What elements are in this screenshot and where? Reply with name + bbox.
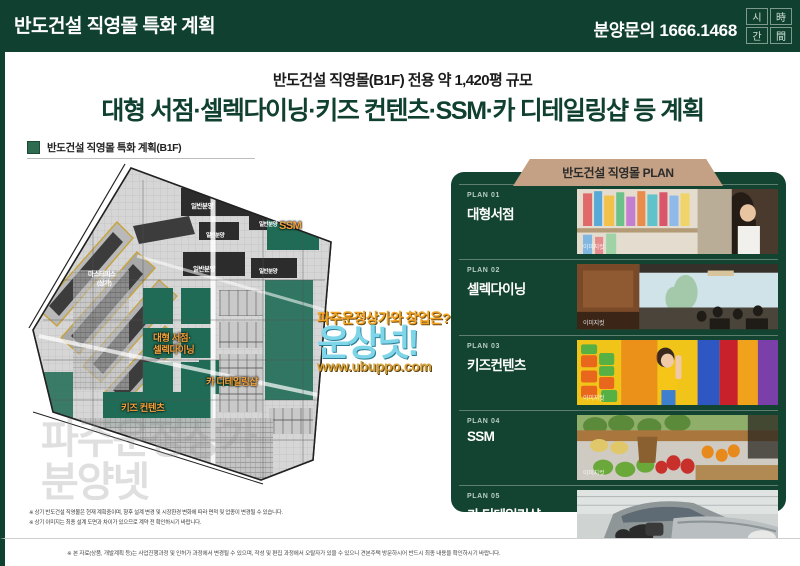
plan-panel: PLAN 01 대형서점: [451, 172, 786, 512]
plan-row-02-photo: 이미지컷: [577, 264, 778, 329]
slide-root: 반도건설 직영몰 특화 계획 분양문의 1666.1468 시 時 간 間 반도…: [0, 0, 800, 566]
floorplan-container: 파주운정상가 분양넷 일반분양 일반분양 일반분양 일반분양 일반분양 마스터피…: [13, 160, 443, 500]
plan-row-01-text: PLAN 01 대형서점: [459, 185, 577, 259]
plan-row-01-photo: 이미지컷: [577, 189, 778, 254]
sigan-logo: 시 時 간 間: [746, 8, 792, 44]
footnote-2: ※ 상기 이미지는 최종 설계 도면과 차이가 있으므로 계약 전 확인하시기 …: [29, 518, 449, 528]
page-header: 반도건설 직영몰 특화 계획 분양문의 1666.1468 시 時 간 間: [0, 0, 800, 52]
plan-row-05-number: PLAN 05: [467, 493, 577, 500]
plan-row-03[interactable]: PLAN 03 키즈컨텐츠: [459, 335, 778, 410]
plan-row-04-text: PLAN 04 SSM: [459, 411, 577, 485]
plan-row-02-caption: 이미지컷: [583, 318, 604, 327]
bottom-disclaimer-bar: ※ 본 자료(상품, 개발계획 등)는 사업진행과정 및 인허가 과정에서 변경…: [0, 538, 800, 566]
content-frame: 반도건설 직영몰(B1F) 전용 약 1,420평 규모 대형 서점·셀렉다이닝…: [0, 52, 800, 538]
plan-row-01-number: PLAN 01: [467, 192, 577, 199]
plan-row-05-name: 카 디테일링샵: [467, 504, 577, 524]
plan-row-03-caption: 이미지컷: [583, 393, 604, 402]
section-label: 반도건설 직영몰 특화 계획(B1F): [27, 140, 255, 159]
plan-row-02[interactable]: PLAN 02 셀렉다이닝: [459, 259, 778, 334]
plan-row-04-photo: 이미지컷: [577, 415, 778, 480]
subtitle: 반도건설 직영몰(B1F) 전용 약 1,420평 규모: [5, 69, 800, 90]
logo-cell-si: 시: [746, 8, 768, 25]
plan-row-01[interactable]: PLAN 01 대형서점: [459, 184, 778, 259]
plan-row-03-number: PLAN 03: [467, 343, 577, 350]
section-label-text: 반도건설 직영몰 특화 계획(B1F): [47, 140, 181, 155]
plan-row-02-number: PLAN 02: [467, 267, 577, 274]
logo-cell-gan-hanja: 間: [770, 27, 792, 44]
plan-row-04[interactable]: PLAN 04 SSM: [459, 410, 778, 485]
footnote-list: ※ 상기 반도건설 직영몰은 현재 계획중이며, 향후 설계 변경 및 시장환경…: [29, 508, 449, 528]
plan-row-04-name: SSM: [467, 429, 577, 444]
plan-row-04-number: PLAN 04: [467, 418, 577, 425]
plan-row-03-text: PLAN 03 키즈컨텐츠: [459, 336, 577, 410]
logo-cell-si-hanja: 時: [770, 8, 792, 25]
floorplan-drawing: [13, 160, 443, 500]
page-title: 반도건설 직영몰 특화 계획: [14, 11, 215, 38]
plan-row-01-name: 대형서점: [467, 203, 577, 223]
plan-row-02-name: 셀렉다이닝: [467, 278, 577, 298]
green-square-icon: [27, 141, 40, 154]
logo-cell-gan: 간: [746, 27, 768, 44]
sales-phone: 분양문의 1666.1468: [594, 16, 737, 41]
footnote-1: ※ 상기 반도건설 직영몰은 현재 계획중이며, 향후 설계 변경 및 시장환경…: [29, 508, 449, 518]
plan-row-01-caption: 이미지컷: [583, 242, 604, 251]
plan-row-03-name: 키즈컨텐츠: [467, 354, 577, 374]
bottom-disclaimer-text: ※ 본 자료(상품, 개발계획 등)는 사업진행과정 및 인허가 과정에서 변경…: [5, 549, 500, 557]
plan-row-02-text: PLAN 02 셀렉다이닝: [459, 260, 577, 334]
plan-row-04-caption: 이미지컷: [583, 468, 604, 477]
plan-row-03-photo: 이미지컷: [577, 340, 778, 405]
plan-row-list: PLAN 01 대형서점: [459, 184, 778, 502]
plan-panel-ribbon: 반도건설 직영몰 PLAN: [513, 159, 723, 186]
main-headline: 대형 서점·셀렉다이닝·키즈 컨텐츠·SSM·카 디테일링샵 등 계획: [5, 91, 800, 127]
